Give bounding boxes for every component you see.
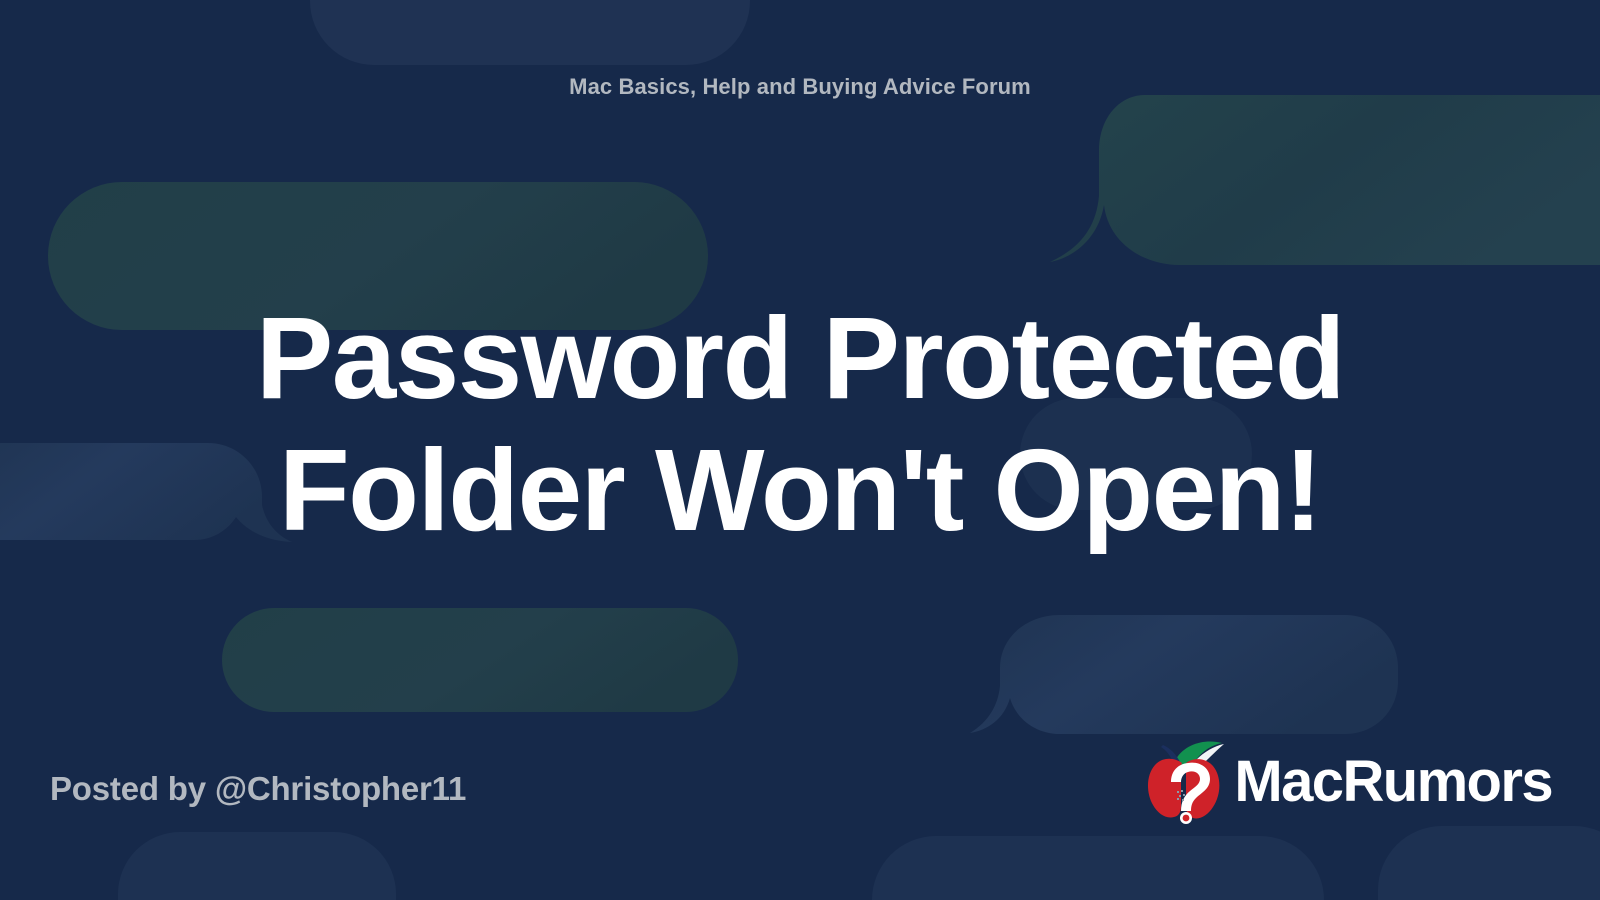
post-title-line-1: Password Protected	[90, 292, 1510, 424]
posted-by-label: Posted by @Christopher11	[50, 770, 466, 808]
forum-name: Mac Basics, Help and Buying Advice Forum	[0, 74, 1600, 100]
post-title-line-2: Folder Won't Open!	[90, 424, 1510, 556]
share-card-canvas: Mac Basics, Help and Buying Advice Forum…	[0, 0, 1600, 900]
macrumors-logo: MacRumors	[1136, 733, 1552, 825]
macrumors-wordmark: MacRumors	[1234, 753, 1552, 811]
macrumors-apple-question-mark-logo	[1136, 733, 1232, 825]
post-title: Password Protected Folder Won't Open!	[0, 292, 1600, 556]
